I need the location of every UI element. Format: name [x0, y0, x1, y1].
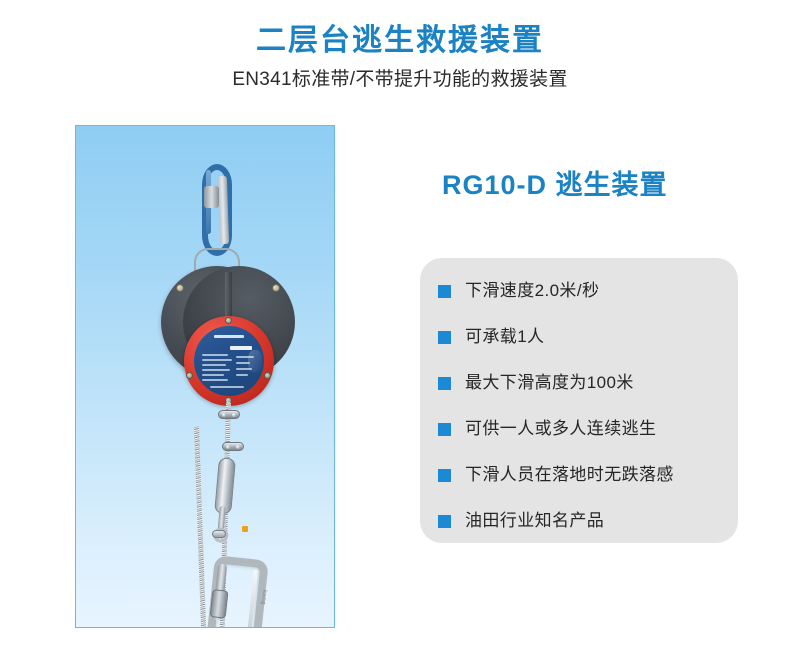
- cable-clamp: [222, 442, 244, 451]
- red-ring: [184, 316, 274, 406]
- cable-clamp: [218, 410, 240, 419]
- nameplate-text-line: [202, 374, 224, 376]
- carabiner-locking-sleeve: [210, 589, 229, 619]
- connector-link: [212, 530, 226, 538]
- spec-item-label: 最大下滑高度为100米: [465, 373, 634, 393]
- shock-absorber: [212, 457, 236, 534]
- spec-item: 下滑速度2.0米/秒: [438, 281, 728, 327]
- spec-item-label: 油田行业知名产品: [465, 511, 604, 531]
- ring-screw: [186, 372, 193, 379]
- nameplate-brand-line: [214, 335, 244, 338]
- nameplate-text-line: [202, 359, 232, 361]
- product-image-panel: kong: [75, 125, 335, 628]
- page-header: 二层台逃生救援装置 EN341标准带/不带提升功能的救援装置: [0, 22, 800, 91]
- page-subtitle: EN341标准带/不带提升功能的救援装置: [0, 69, 800, 92]
- steel-cable-secondary: [194, 426, 206, 628]
- bottom-carabiner-icon: kong: [206, 555, 269, 628]
- spec-item-label: 可供一人或多人连续逃生: [465, 419, 656, 439]
- spec-item-label: 下滑人员在落地时无跌落感: [465, 465, 674, 485]
- nameplate-text-line: [236, 374, 248, 376]
- spec-item: 可承载1人: [438, 327, 728, 373]
- page-title: 二层台逃生救援装置: [0, 22, 800, 60]
- product-model-heading: RG10-D 逃生装置: [442, 163, 668, 202]
- nameplate-text-line: [202, 379, 228, 381]
- nameplate-text-line: [210, 386, 244, 388]
- spec-item-label: 可承载1人: [465, 327, 544, 347]
- top-carabiner-icon: [200, 164, 234, 256]
- spec-item: 油田行业知名产品: [438, 511, 728, 557]
- nameplate-text-line: [202, 354, 228, 356]
- spec-item: 下滑人员在落地时无跌落感: [438, 465, 728, 511]
- descender-device-illustration: kong: [76, 126, 335, 628]
- bullet-square-icon: [438, 377, 451, 390]
- bullet-square-icon: [438, 469, 451, 482]
- housing-screw: [176, 284, 184, 292]
- bullet-square-icon: [438, 285, 451, 298]
- product-nameplate: [194, 326, 264, 396]
- carabiner-locking-sleeve: [204, 186, 219, 208]
- ring-screw: [225, 317, 232, 324]
- absorber-body: [214, 457, 236, 514]
- carabiner-brand-label: kong: [260, 590, 268, 606]
- nameplate-glint: [248, 350, 262, 372]
- housing-screw: [272, 284, 280, 292]
- bullet-square-icon: [438, 515, 451, 528]
- bullet-square-icon: [438, 331, 451, 344]
- indicator-dot: [242, 526, 248, 532]
- nameplate-text-line: [202, 369, 230, 371]
- spec-item: 最大下滑高度为100米: [438, 373, 728, 419]
- spec-item-label: 下滑速度2.0米/秒: [465, 281, 599, 301]
- spec-item: 可供一人或多人连续逃生: [438, 419, 728, 465]
- nameplate-text-line: [202, 364, 226, 366]
- product-detail-page: 二层台逃生救援装置 EN341标准带/不带提升功能的救援装置: [0, 0, 800, 666]
- nameplate-model-line: [230, 346, 252, 350]
- ring-screw: [264, 372, 271, 379]
- bullet-square-icon: [438, 423, 451, 436]
- spec-list: 下滑速度2.0米/秒 可承载1人 最大下滑高度为100米 可供一人或多人连续逃生…: [438, 281, 728, 557]
